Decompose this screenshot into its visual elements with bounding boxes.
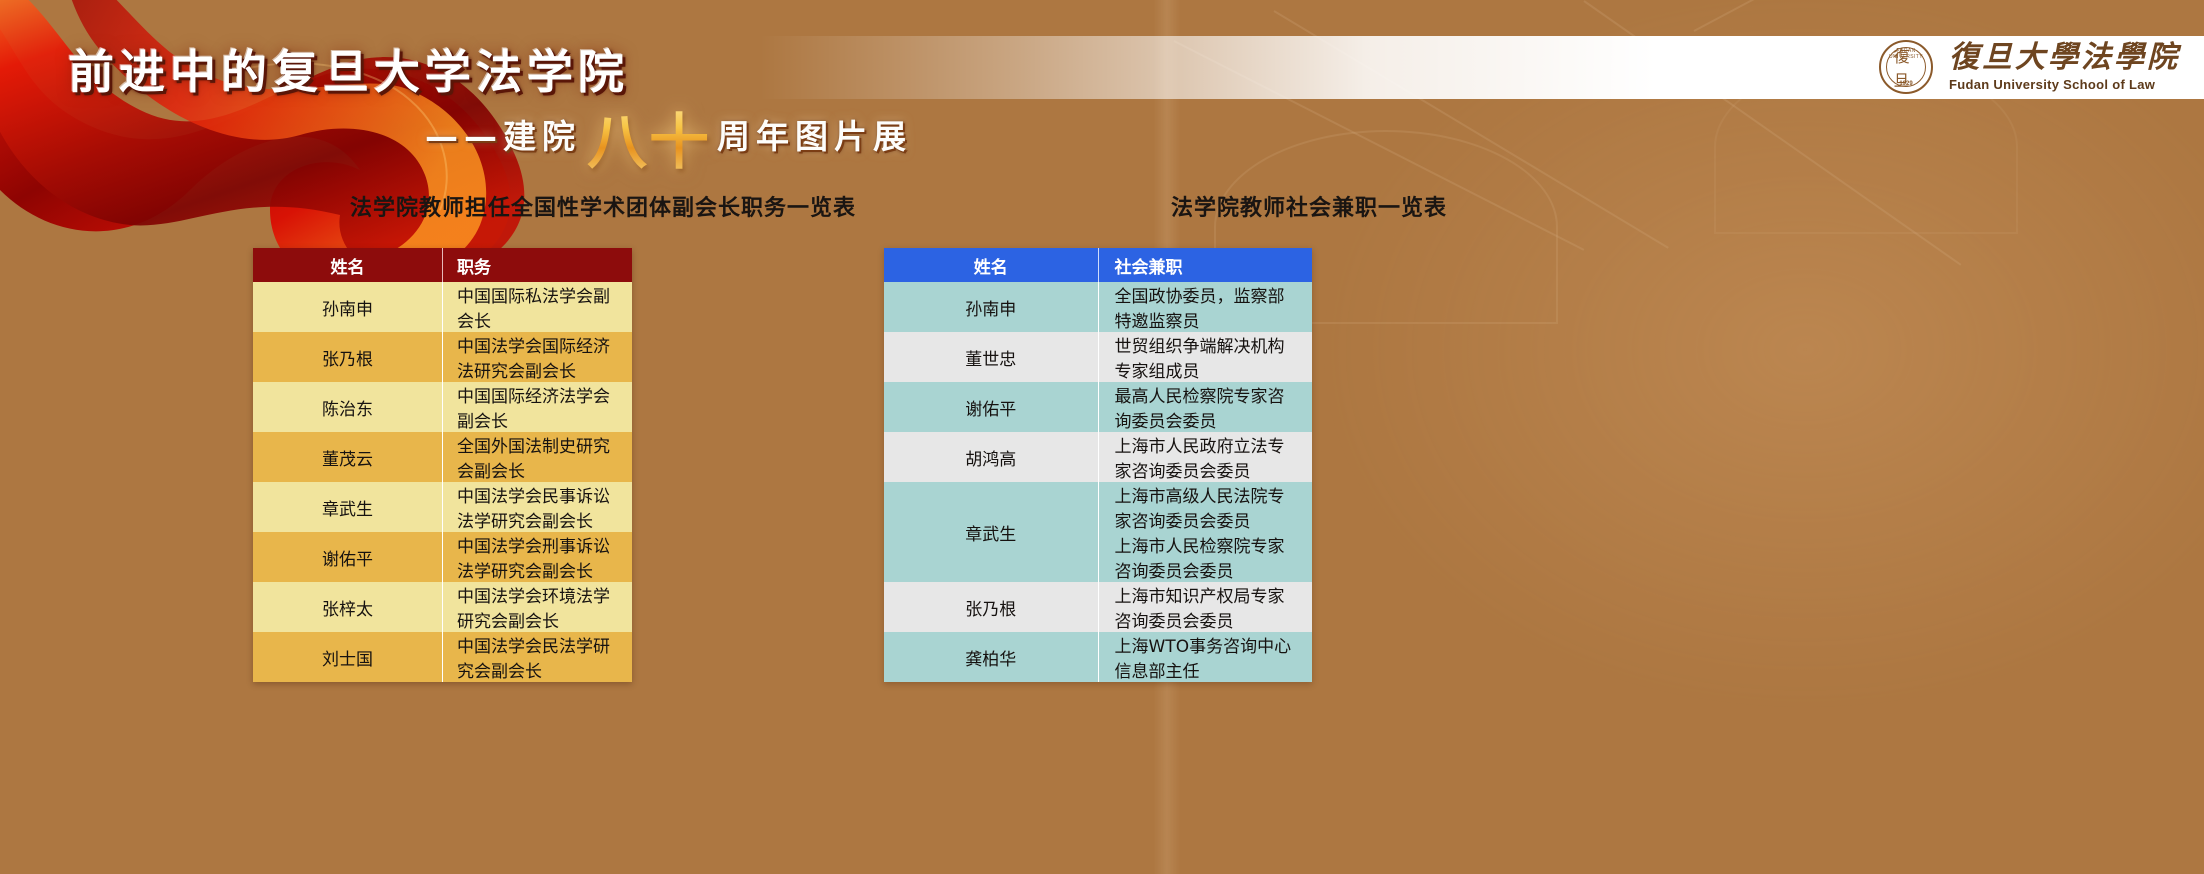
table-row: 龚柏华上海WTO事务咨询中心信息部主任 — [884, 632, 1312, 682]
cell-role: 中国法学会国际经济法研究会副会长 — [443, 332, 633, 382]
cell-name: 刘士国 — [253, 632, 443, 682]
cell-name: 孙南申 — [884, 282, 1098, 332]
left-table-body: 孙南申中国国际私法学会副会长张乃根中国法学会国际经济法研究会副会长陈治东中国国际… — [253, 282, 632, 682]
cell-role: 中国法学会民事诉讼法学研究会副会长 — [443, 482, 633, 532]
logo-name-en: Fudan University School of Law — [1949, 77, 2180, 92]
cell-duty: 上海市人民政府立法专家咨询委员会委员 — [1098, 432, 1312, 482]
left-table-head: 姓名 职务 — [253, 248, 632, 282]
national-academic-vice-president-table: 姓名 职务 孙南申中国国际私法学会副会长张乃根中国法学会国际经济法研究会副会长陈… — [253, 248, 632, 682]
cell-role: 中国法学会环境法学研究会副会长 — [443, 582, 633, 632]
right-table-title: 法学院教师社会兼职一览表 — [884, 190, 1734, 222]
social-appointments-table: 姓名 社会兼职 孙南申全国政协委员，监察部特邀监察员董世忠世贸组织争端解决机构专… — [884, 248, 1312, 682]
university-seal-icon: FUDAN UNIVERSITY 復旦 1929 — [1879, 40, 1933, 94]
subtitle-anniversary-number: 八十 — [587, 94, 711, 181]
table-row: 胡鸿高上海市人民政府立法专家咨询委员会委员 — [884, 432, 1312, 482]
cell-name: 谢佑平 — [884, 382, 1098, 432]
seal-center-glyph: 復旦 — [1894, 43, 1919, 91]
cell-name: 章武生 — [884, 482, 1098, 582]
fudan-law-logo: FUDAN UNIVERSITY 復旦 1929 復旦大學法學院 Fudan U… — [1879, 38, 2180, 96]
cell-name: 胡鸿高 — [884, 432, 1098, 482]
table-header-row: 姓名 社会兼职 — [884, 248, 1312, 282]
table-header-row: 姓名 职务 — [253, 248, 632, 282]
table-row: 董茂云全国外国法制史研究会副会长 — [253, 432, 632, 482]
cell-name: 张乃根 — [253, 332, 443, 382]
poster-canvas: 前进中的复旦大学法学院 ——建院 八十 周年图片展 FUDAN UNIVERSI… — [0, 0, 2204, 874]
right-table-body: 孙南申全国政协委员，监察部特邀监察员董世忠世贸组织争端解决机构专家组成员谢佑平最… — [884, 282, 1312, 682]
table-row: 章武生上海市高级人民法院专家咨询委员会委员 — [884, 482, 1312, 532]
subtitle-suffix: 周年图片展 — [717, 110, 912, 158]
table-row: 陈治东中国国际经济法学会副会长 — [253, 382, 632, 432]
table-row: 张乃根中国法学会国际经济法研究会副会长 — [253, 332, 632, 382]
left-col-name: 姓名 — [253, 248, 443, 282]
left-table-title: 法学院教师担任全国性学术团体副会长职务一览表 — [253, 190, 953, 222]
cell-name: 陈治东 — [253, 382, 443, 432]
cell-role: 中国法学会刑事诉讼法学研究会副会长 — [443, 532, 633, 582]
cell-name: 章武生 — [253, 482, 443, 532]
cell-duty: 上海市高级人民法院专家咨询委员会委员 — [1098, 482, 1312, 532]
logo-name-zh: 復旦大學法學院 — [1949, 43, 2180, 73]
table-row: 章武生中国法学会民事诉讼法学研究会副会长 — [253, 482, 632, 532]
table-row: 刘士国中国法学会民法学研究会副会长 — [253, 632, 632, 682]
cell-name: 董世忠 — [884, 332, 1098, 382]
cell-role: 中国法学会民法学研究会副会长 — [443, 632, 633, 682]
cell-name: 董茂云 — [253, 432, 443, 482]
seal-top-text: FUDAN UNIVERSITY — [1881, 48, 1931, 60]
cell-duty: 最高人民检察院专家咨询委员会委员 — [1098, 382, 1312, 432]
table-row: 张乃根上海市知识产权局专家咨询委员会委员 — [884, 582, 1312, 632]
left-table-block: 法学院教师担任全国性学术团体副会长职务一览表 姓名 职务 孙南申中国国际私法学会… — [253, 190, 953, 682]
table-row: 张梓太中国法学会环境法学研究会副会长 — [253, 582, 632, 632]
poster-subtitle: ——建院 八十 周年图片展 — [425, 90, 912, 177]
cell-name: 张乃根 — [884, 582, 1098, 632]
cell-duty: 世贸组织争端解决机构专家组成员 — [1098, 332, 1312, 382]
table-row: 董世忠世贸组织争端解决机构专家组成员 — [884, 332, 1312, 382]
cell-name: 龚柏华 — [884, 632, 1098, 682]
cell-duty: 上海市人民检察院专家咨询委员会委员 — [1098, 532, 1312, 582]
cell-duty: 全国政协委员，监察部特邀监察员 — [1098, 282, 1312, 332]
logo-text-block: 復旦大學法學院 Fudan University School of Law — [1949, 43, 2180, 92]
subtitle-prefix: ——建院 — [425, 110, 581, 158]
table-row: 孙南申全国政协委员，监察部特邀监察员 — [884, 282, 1312, 332]
cell-name: 谢佑平 — [253, 532, 443, 582]
cell-name: 张梓太 — [253, 582, 443, 632]
cell-duty: 上海WTO事务咨询中心信息部主任 — [1098, 632, 1312, 682]
cell-name: 孙南申 — [253, 282, 443, 332]
seal-year: 1929 — [1881, 81, 1931, 87]
cell-duty: 上海市知识产权局专家咨询委员会委员 — [1098, 582, 1312, 632]
table-row: 谢佑平中国法学会刑事诉讼法学研究会副会长 — [253, 532, 632, 582]
left-col-role: 职务 — [443, 248, 633, 282]
right-col-duty: 社会兼职 — [1098, 248, 1312, 282]
right-table-block: 法学院教师社会兼职一览表 姓名 社会兼职 孙南申全国政协委员，监察部特邀监察员董… — [884, 190, 1734, 682]
table-row: 孙南申中国国际私法学会副会长 — [253, 282, 632, 332]
right-col-name: 姓名 — [884, 248, 1098, 282]
right-table-head: 姓名 社会兼职 — [884, 248, 1312, 282]
cell-role: 全国外国法制史研究会副会长 — [443, 432, 633, 482]
cell-role: 中国国际私法学会副会长 — [443, 282, 633, 332]
table-row: 谢佑平最高人民检察院专家咨询委员会委员 — [884, 382, 1312, 432]
cell-role: 中国国际经济法学会副会长 — [443, 382, 633, 432]
